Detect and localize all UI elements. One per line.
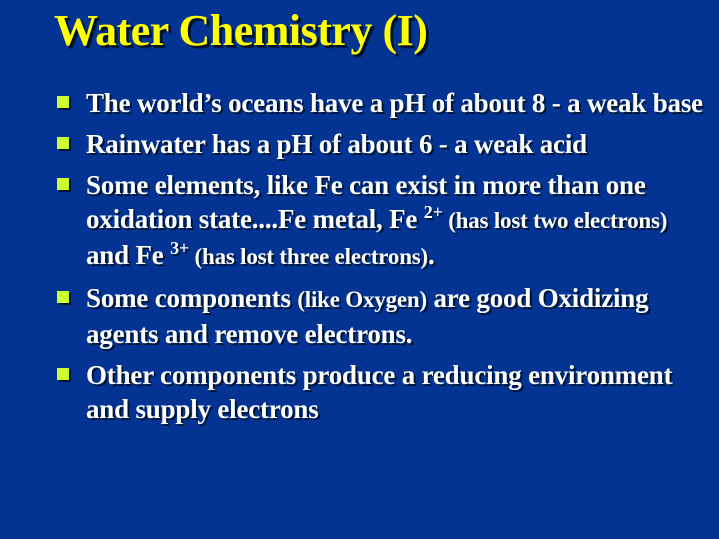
- text-segment-parenthetical: (has lost three electrons): [189, 244, 428, 269]
- list-item-text: Rainwater has a pH of about 6 - a weak a…: [86, 127, 704, 161]
- list-item-text: The world’s oceans have a pH of about 8 …: [86, 86, 704, 120]
- text-segment: and Fe: [86, 240, 170, 270]
- list-item[interactable]: Other components produce a reducing envi…: [56, 358, 704, 426]
- list-item[interactable]: Some elements, like Fe can exist in more…: [56, 168, 704, 274]
- square-bullet-icon: [57, 291, 69, 303]
- list-item[interactable]: The world’s oceans have a pH of about 8 …: [56, 86, 704, 120]
- list-item-text: Other components produce a reducing envi…: [86, 358, 704, 426]
- list-item-text: Some components (like Oxygen) are good O…: [86, 281, 704, 351]
- list-item[interactable]: Rainwater has a pH of about 6 - a weak a…: [56, 127, 704, 161]
- list-item[interactable]: Some components (like Oxygen) are good O…: [56, 281, 704, 351]
- text-segment: Other components produce a reducing envi…: [86, 360, 672, 424]
- square-bullet-icon: [57, 178, 69, 190]
- text-segment-parenthetical: (like Oxygen): [297, 287, 427, 312]
- text-segment: .: [428, 240, 435, 270]
- page-title: Water Chemistry (I): [54, 6, 694, 56]
- square-bullet-icon: [57, 96, 69, 108]
- text-segment: Rainwater has a pH of about 6 - a weak a…: [86, 129, 587, 159]
- text-segment: Some components: [86, 283, 297, 313]
- square-bullet-icon: [57, 368, 69, 380]
- bullet-list: The world’s oceans have a pH of about 8 …: [56, 86, 704, 433]
- text-segment-parenthetical: (has lost two electrons): [443, 208, 668, 233]
- list-item-text: Some elements, like Fe can exist in more…: [86, 168, 704, 274]
- square-bullet-icon: [57, 137, 69, 149]
- text-segment: The world’s oceans have a pH of about 8 …: [86, 88, 703, 118]
- superscript-charge-3plus: 3+: [170, 238, 189, 258]
- presentation-slide: Water Chemistry (I) The world’s oceans h…: [0, 0, 719, 539]
- superscript-charge-2plus: 2+: [424, 202, 443, 222]
